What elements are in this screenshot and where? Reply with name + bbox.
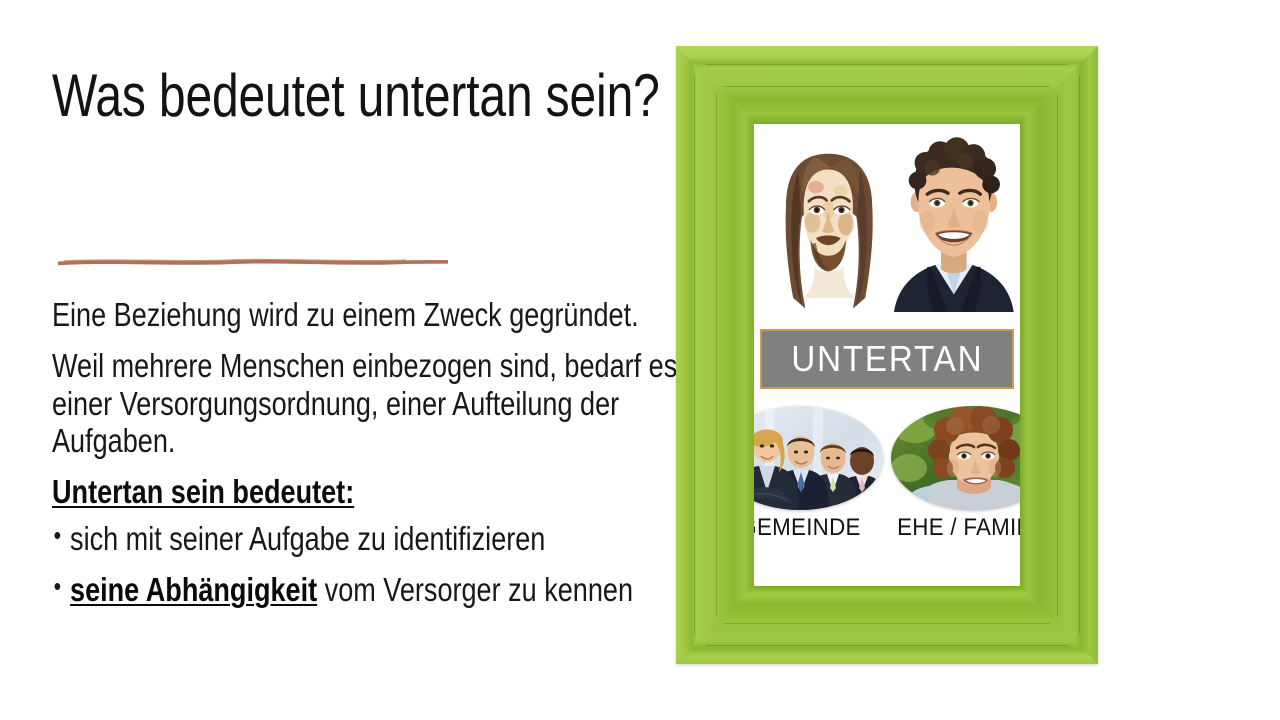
page-title: Was bedeutet untertan sein? [52,62,672,129]
gemeinde-cell: GEMEINDE [754,406,883,546]
woman-portrait-photo [891,406,1020,510]
bullet-list: sich mit seiner Aufgabe zu identifiziere… [52,520,692,610]
oval-label-gemeinde: GEMEINDE [754,514,877,542]
frame-mat: UNTERTAN [754,124,1020,586]
body-text-block: Eine Beziehung wird zu einem Zweck gegrü… [52,296,692,622]
paragraph-purpose: Eine Beziehung wird zu einem Zweck gegrü… [52,296,692,333]
bullet-text-2: vom Versorger zu kennen [317,571,633,608]
frame-bar-right [1020,46,1098,664]
jesus-watercolor-portrait [754,124,892,312]
oval-row: GEMEINDE [754,406,1020,546]
business-team-photo [754,406,883,510]
bullet-emphasis-2: seine Abhängigkeit [70,571,317,608]
smiling-man-photo [892,124,1020,312]
slide-canvas: Was bedeutet untertan sein? Eine Beziehu… [0,0,1280,720]
text-column: Was bedeutet untertan sein? [52,62,672,129]
oval-label-ehe-familie: EHE / FAMILIE [897,514,1020,542]
green-picture-frame: UNTERTAN [676,46,1098,664]
brush-stroke-divider [54,250,454,272]
lead-in-heading: Untertan sein bedeutet: [52,472,692,512]
ehe-familie-cell: EHE / FAMILIE [891,406,1020,546]
untertan-banner: UNTERTAN [760,329,1014,389]
untertan-banner-label: UNTERTAN [791,338,983,380]
portrait-row [754,124,1020,312]
frame-bar-left [676,46,754,664]
bullet-text-1: sich mit seiner Aufgabe zu identifiziere… [70,520,545,557]
paragraph-order: Weil mehrere Menschen einbezogen sind, b… [52,347,692,459]
list-item: seine Abhängigkeit vom Versorger zu kenn… [52,571,710,610]
list-item: sich mit seiner Aufgabe zu identifiziere… [52,520,710,559]
